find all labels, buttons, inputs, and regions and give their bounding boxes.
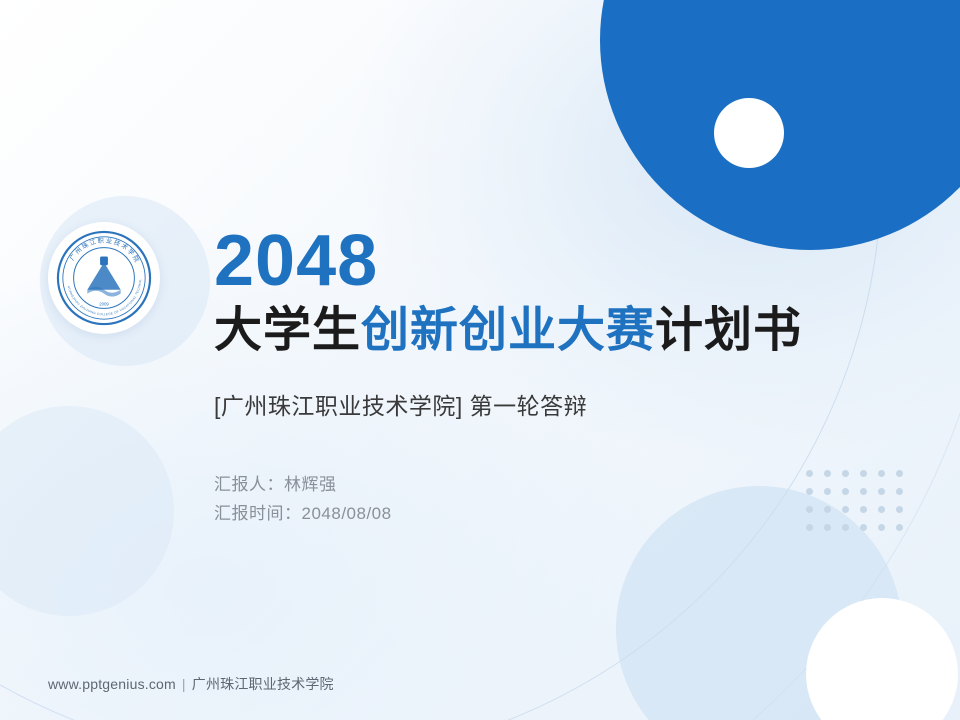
title-highlight: 创新创业大赛 — [361, 304, 655, 357]
footer-org: 广州珠江职业技术学院 — [192, 674, 334, 694]
presentation-date: 汇报时间：2048/08/08 — [214, 499, 914, 528]
presentation-slide: 广州珠江职业技术学院 GUANGZHOU ZHUJIANG COLLEGE OF… — [0, 0, 960, 720]
university-logo: 广州珠江职业技术学院 GUANGZHOU ZHUJIANG COLLEGE OF… — [48, 222, 160, 334]
decorative-white-dot — [714, 98, 784, 168]
footer-separator: | — [182, 676, 186, 692]
presenter-info: 汇报人：林辉强 汇报时间：2048/08/08 — [214, 470, 914, 528]
subtitle: [广州珠江职业技术学院] 第一轮答辩 — [214, 390, 914, 422]
svg-text:2009: 2009 — [99, 301, 109, 306]
title-block: 2048 大学生创新创业大赛计划书 [广州珠江职业技术学院] 第一轮答辩 汇报人… — [214, 222, 914, 528]
university-seal-icon: 广州珠江职业技术学院 GUANGZHOU ZHUJIANG COLLEGE OF… — [55, 229, 153, 327]
footer: www.pptgenius.com | 广州珠江职业技术学院 — [48, 674, 334, 694]
title-part-1: 大学生 — [214, 304, 361, 357]
footer-site[interactable]: www.pptgenius.com — [48, 676, 176, 692]
page-title: 大学生创新创业大赛计划书 — [214, 302, 914, 360]
presenter-name: 汇报人：林辉强 — [214, 470, 914, 499]
title-part-2: 计划书 — [655, 304, 802, 357]
year-heading: 2048 — [214, 222, 914, 300]
